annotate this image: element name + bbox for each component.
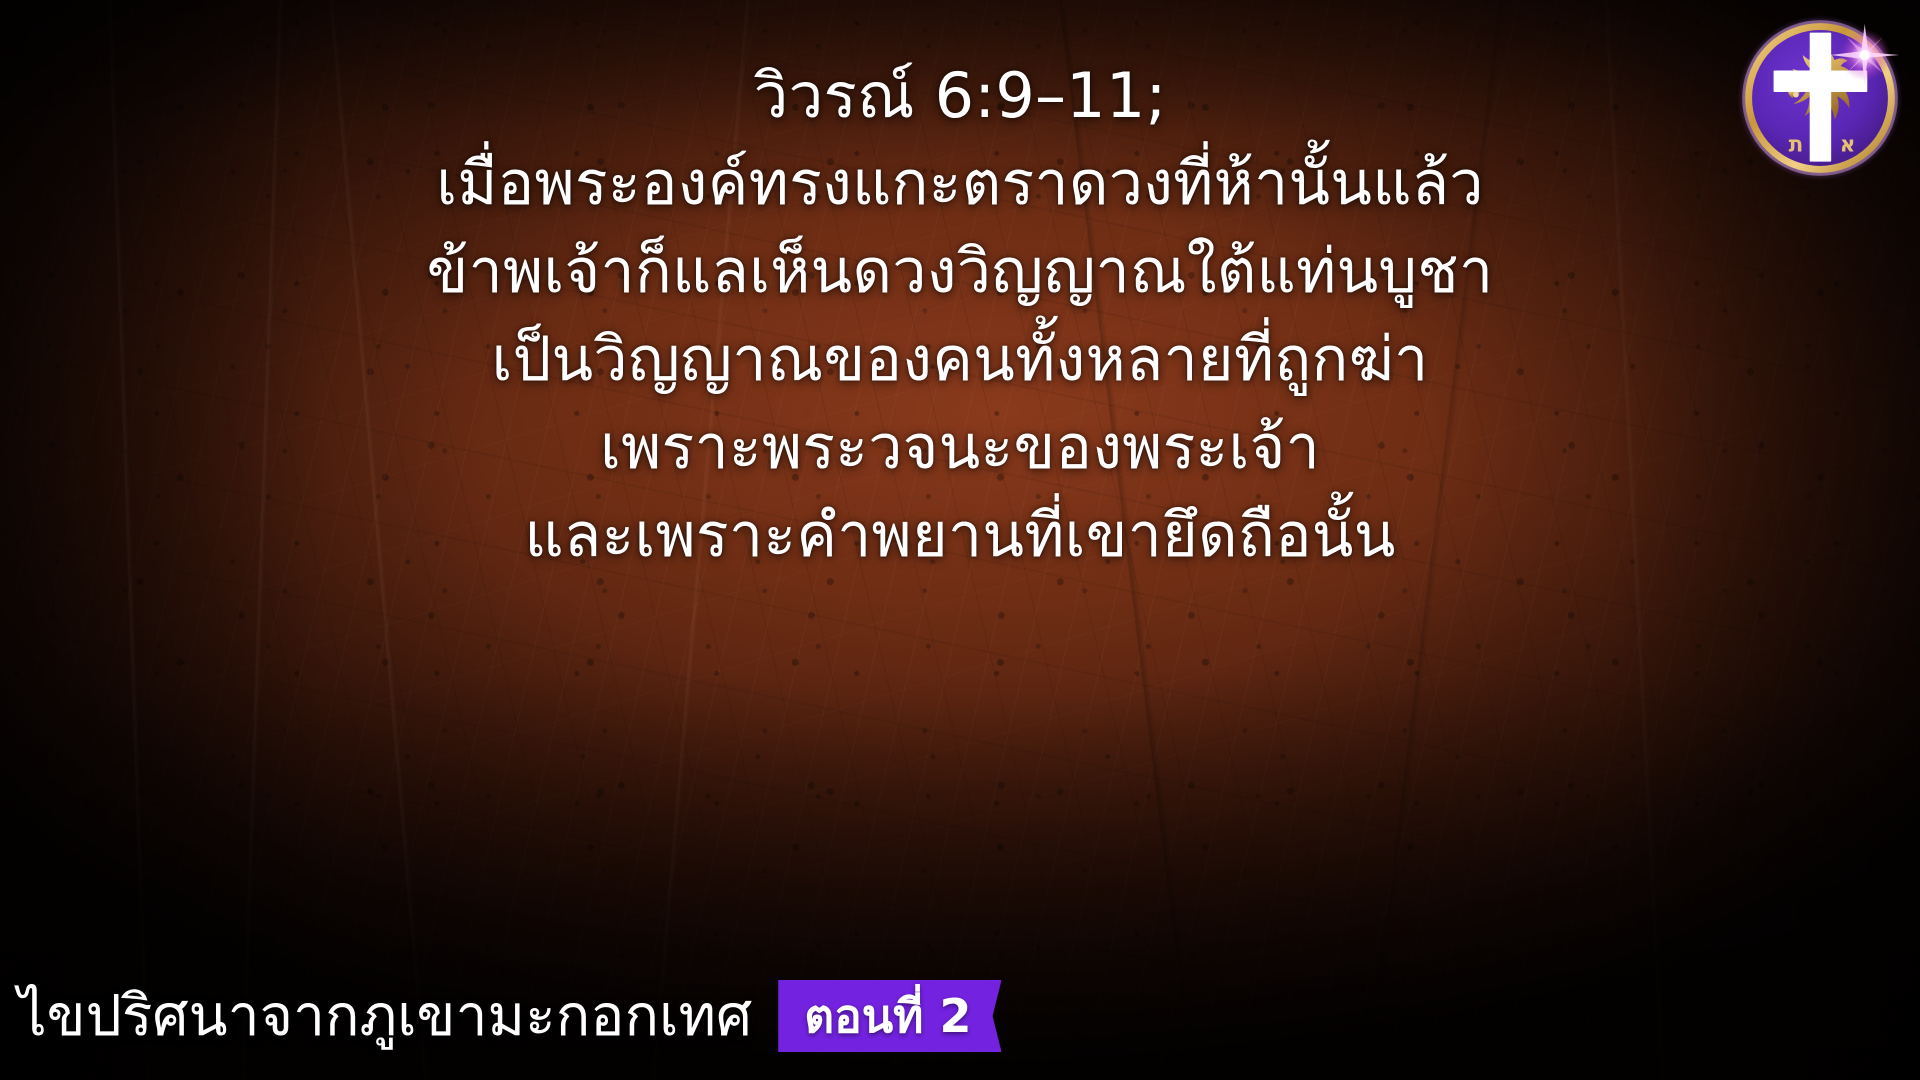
logo-emblem-icon: ת א: [1734, 12, 1906, 184]
series-title: ไขปริศนาจากภูเขามะกอกเทศ: [18, 988, 752, 1045]
episode-banner: ตอนที่ 2: [778, 980, 1001, 1052]
verse-line-4: เพราะพระวจนะของพระเจ้า: [110, 404, 1810, 492]
ministry-logo: ת א: [1734, 12, 1906, 184]
verse-line-2: ข้าพเจ้าก็แลเห็นดวงวิญญาณใต้แท่นบูชา: [110, 228, 1810, 316]
verse-line-1: เมื่อพระองค์ทรงแกะตราดวงที่ห้านั้นแล้ว: [110, 140, 1810, 228]
verse-reference: วิวรณ์ 6:9–11;: [110, 52, 1810, 140]
hebrew-letter-aleph: א: [1840, 132, 1856, 157]
verse-line-5: และเพราะคำพยานที่เขายึดถือนั้น: [110, 492, 1810, 580]
hebrew-letter-tav: ת: [1789, 132, 1804, 157]
slide-canvas: วิวรณ์ 6:9–11; เมื่อพระองค์ทรงแกะตราดวงท…: [0, 0, 1920, 1080]
verse-line-3: เป็นวิญญาณของคนทั้งหลายที่ถูกฆ่า: [110, 316, 1810, 404]
episode-label: ตอนที่ 2: [804, 993, 971, 1039]
verse-text-block: วิวรณ์ 6:9–11; เมื่อพระองค์ทรงแกะตราดวงท…: [0, 52, 1920, 580]
footer-bar: ไขปริศนาจากภูเขามะกอกเทศ ตอนที่ 2: [18, 980, 1002, 1052]
